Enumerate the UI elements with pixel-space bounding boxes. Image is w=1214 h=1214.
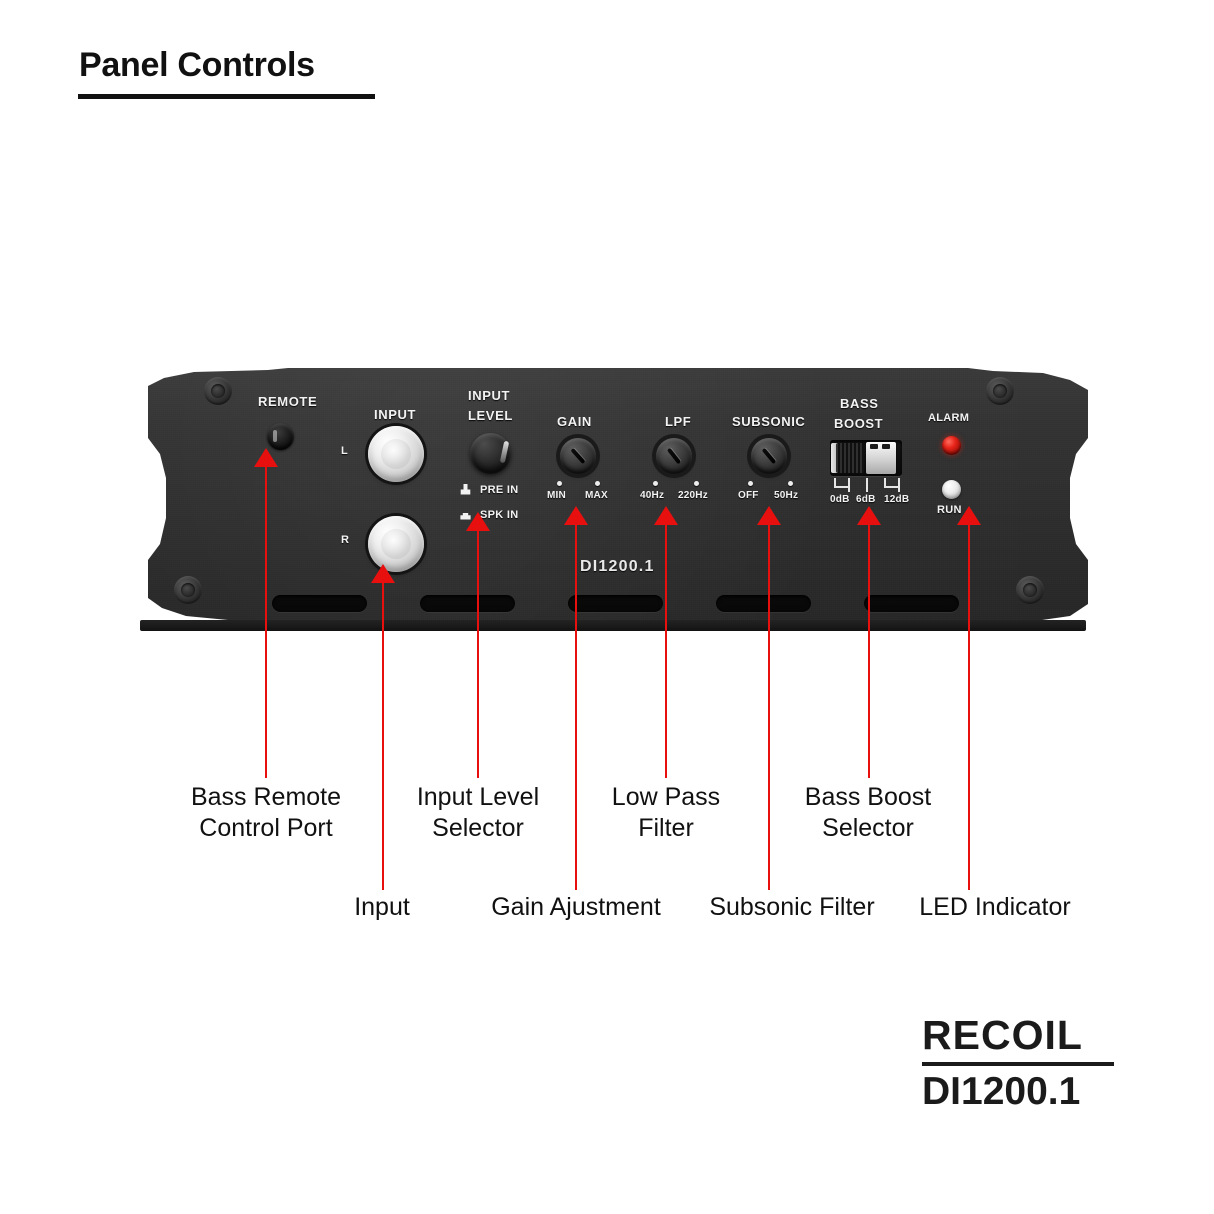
lpf-min-label: 40Hz [640, 490, 664, 501]
input-left-label: L [341, 445, 348, 457]
page-root: Panel Controls REMOTE INPUT L R INPUT LE… [0, 0, 1214, 1214]
vent-slot [568, 595, 663, 612]
bb-tick-12-down [898, 478, 900, 492]
gain-max-label: MAX [585, 490, 608, 501]
vent-slot [716, 595, 811, 612]
caption-input: Input [310, 892, 454, 923]
gain-knob[interactable] [560, 438, 596, 474]
subsonic-knob[interactable] [751, 438, 787, 474]
bass-boost-switch-rail [836, 443, 864, 473]
alarm-led-indicator [942, 436, 961, 455]
screw-bottom-right [1016, 576, 1044, 604]
input-level-label-line1: INPUT [468, 388, 510, 403]
caption-bass-remote-control-port: Bass Remote Control Port [160, 782, 372, 844]
subsonic-label: SUBSONIC [732, 414, 805, 429]
brand-lockup: RECOIL DI1200.1 [922, 1012, 1118, 1114]
caption-input-level-selector: Input Level Selector [372, 782, 584, 844]
subsonic-knob-indicator [762, 448, 777, 464]
input-label: INPUT [374, 407, 416, 422]
input-level-knob[interactable] [470, 433, 511, 474]
title-underline [78, 94, 375, 99]
amplifier-base-lip [140, 620, 1086, 631]
bb-0db-label: 0dB [830, 494, 850, 505]
screw-top-right [986, 377, 1014, 405]
lpf-knob[interactable] [656, 438, 692, 474]
gain-label: GAIN [557, 414, 592, 429]
brand-divider [922, 1062, 1114, 1066]
bass-boost-label-line1: BASS [840, 396, 879, 411]
page-title: Panel Controls [79, 46, 315, 85]
subsonic-off-label: OFF [738, 490, 759, 501]
gain-max-dot [595, 481, 600, 486]
vent-slot [864, 595, 959, 612]
lpf-max-label: 220Hz [678, 490, 708, 501]
caption-bass-boost-selector: Bass Boost Selector [762, 782, 974, 844]
brand-model: DI1200.1 [922, 1070, 1118, 1114]
subsonic-on-label: 50Hz [774, 490, 798, 501]
pre-in-label: PRE IN [480, 484, 518, 496]
vent-slot [420, 595, 515, 612]
caption-gain-adjustment: Gain Ajustment [452, 892, 700, 923]
caption-led-indicator: LED Indicator [904, 892, 1086, 923]
screw-top-left [204, 377, 232, 405]
subsonic-on-dot [788, 481, 793, 486]
vent-slot [272, 595, 367, 612]
bb-tick-0-down [848, 478, 850, 492]
gain-min-dot [557, 481, 562, 486]
bass-remote-port[interactable] [267, 423, 294, 450]
pre-in-icon [458, 483, 473, 497]
bb-6db-label: 6dB [856, 494, 876, 505]
remote-label: REMOTE [258, 394, 317, 409]
lpf-max-dot [694, 481, 699, 486]
rca-jack-left[interactable] [368, 426, 424, 482]
run-led-indicator [942, 480, 961, 499]
screw-bottom-left [174, 576, 202, 604]
lpf-knob-indicator [667, 448, 681, 465]
brand-name: RECOIL [922, 1012, 1118, 1059]
bass-boost-switch[interactable] [830, 440, 902, 476]
input-right-label: R [341, 534, 349, 546]
caption-low-pass-filter: Low Pass Filter [566, 782, 766, 844]
gain-knob-indicator [570, 448, 585, 464]
lpf-label: LPF [665, 414, 691, 429]
bass-boost-label-line2: BOOST [834, 416, 883, 431]
gain-min-label: MIN [547, 490, 566, 501]
amplifier-front-panel: REMOTE INPUT L R INPUT LEVEL PRE IN SPK … [148, 368, 1088, 638]
panel-model-silkscreen: DI1200.1 [580, 558, 655, 576]
lpf-min-dot [653, 481, 658, 486]
bass-boost-switch-lever[interactable] [866, 442, 896, 474]
subsonic-off-dot [748, 481, 753, 486]
alarm-label: ALARM [928, 412, 969, 424]
input-level-label-line2: LEVEL [468, 408, 513, 423]
bb-tick-6 [866, 478, 868, 492]
bb-12db-label: 12dB [884, 494, 909, 505]
caption-subsonic-filter: Subsonic Filter [692, 892, 892, 923]
